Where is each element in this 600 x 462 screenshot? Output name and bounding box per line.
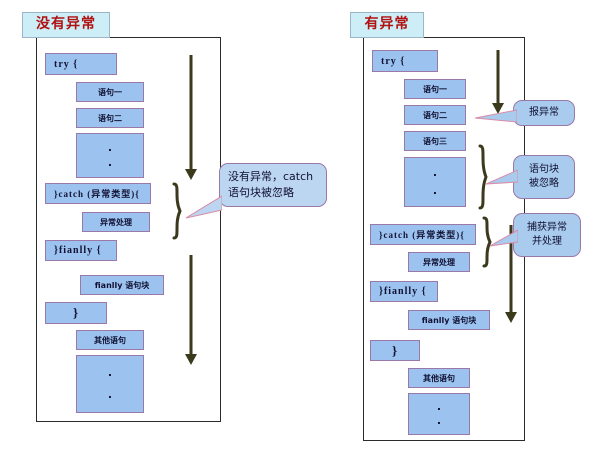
left-catch-open-box: }catch (异常类型){ (45, 183, 151, 204)
right-statement-3-box: 语句三 (404, 131, 466, 151)
right-finally-open-box: }fianlly { (370, 281, 438, 302)
right-close-brace-box: } (370, 340, 420, 361)
left-flow-arrow-top (183, 55, 199, 180)
right-exception-handling-box: 异常处理 (408, 252, 470, 272)
dot-glyph: . (108, 371, 112, 375)
left-finally-open-box: }fianlly { (45, 240, 117, 261)
right-finally-block-box: fianlly 语句块 (408, 310, 490, 330)
right-statement-dots-box-1: . . (404, 157, 466, 207)
left-other-statement-box: 其他语句 (76, 330, 144, 350)
left-callout-tail (186, 192, 222, 222)
panel-has-exception: 有异常 try { 语句一 语句二 语句三 . . }catch (异常类型){… (300, 0, 600, 462)
right-callout-catch-handle: 捕获异常 并处理 (513, 213, 581, 257)
right-flow-arrow-top (490, 50, 506, 114)
left-flow-arrow-bottom (183, 255, 199, 365)
dot-glyph: . (108, 146, 112, 150)
left-finally-block-box: fianlly 语句块 (80, 275, 164, 295)
right-try-open-box: try { (372, 50, 438, 72)
right-callout-ignored-line-2: 被忽略 (529, 177, 559, 191)
dot-glyph: . (433, 171, 437, 175)
dot-glyph: . (433, 189, 437, 193)
right-callout-ignored-line-1: 语句块 (529, 163, 559, 177)
right-panel-title: 有异常 (350, 12, 424, 38)
right-callout-throw-exception: 报异常 (513, 100, 575, 126)
right-statement-dots-box-2: . . (408, 393, 470, 435)
right-callout-block-ignored: 语句块 被忽略 (513, 155, 575, 199)
right-statement-2-box: 语句二 (404, 105, 466, 125)
right-statement-1-box: 语句一 (404, 79, 466, 99)
left-statement-1-box: 语句一 (76, 82, 144, 102)
dot-glyph: . (108, 393, 112, 397)
left-statement-2-box: 语句二 (76, 108, 144, 128)
right-callout-catch-line-1: 捕获异常 (527, 221, 567, 235)
left-statement-dots-box-2: . . (76, 355, 144, 413)
panel-no-exception: 没有异常 try { 语句一 语句二 . . }catch (异常类型){ 异常… (0, 0, 300, 462)
dot-glyph: . (437, 405, 441, 409)
left-exception-handling-box: 异常处理 (82, 212, 150, 232)
left-callout-line-2: 语句块被忽略 (228, 185, 294, 201)
left-close-brace-box: } (45, 302, 107, 324)
right-callout-throw-text: 报异常 (529, 106, 559, 120)
dot-glyph: . (437, 419, 441, 423)
right-callout-catch-tail (490, 228, 518, 250)
right-catch-open-box: }catch (异常类型){ (370, 224, 476, 245)
left-try-open-box: try { (45, 53, 117, 75)
left-panel-title: 没有异常 (22, 12, 110, 38)
right-callout-throw-tail (475, 108, 517, 130)
right-callout-ignored-tail (486, 168, 518, 190)
dot-glyph: . (108, 161, 112, 165)
right-other-statement-box: 其他语句 (408, 368, 470, 388)
right-callout-catch-line-2: 并处理 (532, 235, 562, 249)
left-statement-dots-box-1: . . (76, 133, 144, 178)
